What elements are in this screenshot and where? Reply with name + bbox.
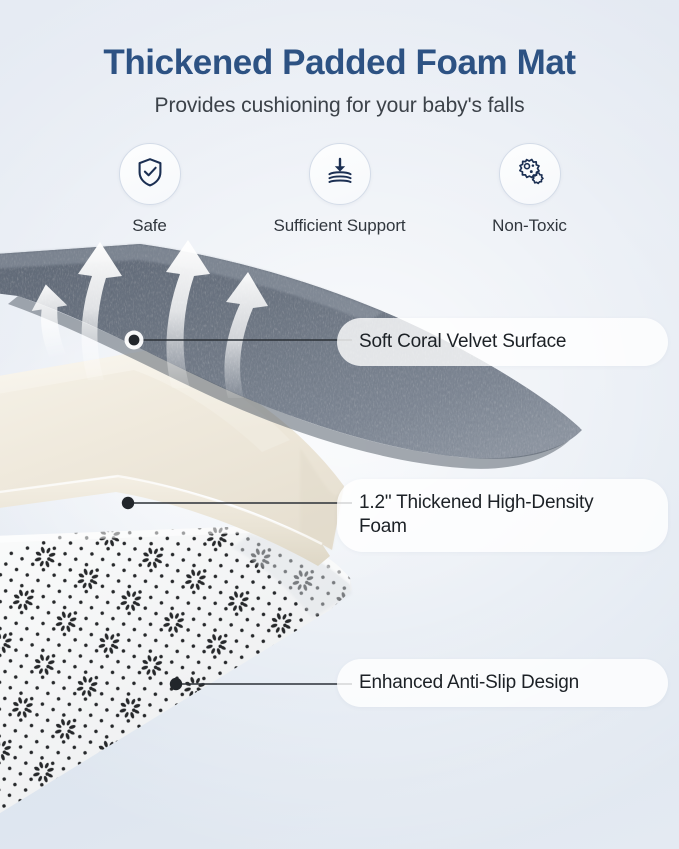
- callout-thickened-high-density-foam: 1.2" Thickened High-Density Foam: [337, 479, 668, 552]
- callout-line: 1.2" Thickened High-Density: [359, 491, 646, 515]
- feature-list: Safe Sufficient Support: [0, 143, 679, 236]
- feature-label: Safe: [55, 216, 245, 236]
- callout-enhanced-anti-slip-design: Enhanced Anti-Slip Design: [337, 659, 668, 707]
- callout-line-2: Foam: [359, 515, 646, 539]
- shield-check-icon: [133, 155, 167, 194]
- feature-icon-circle: [309, 143, 371, 205]
- feature-icon-circle: [499, 143, 561, 205]
- feature-item-sufficient-support: Sufficient Support: [245, 143, 435, 236]
- callout-line: Enhanced Anti-Slip Design: [359, 671, 646, 695]
- feature-item-non-toxic: Non-Toxic: [435, 143, 625, 236]
- feature-icon-circle: [119, 143, 181, 205]
- page-subtitle: Provides cushioning for your baby's fall…: [0, 94, 679, 118]
- callout-line: Soft Coral Velvet Surface: [359, 330, 646, 354]
- page-title: Thickened Padded Foam Mat: [0, 45, 679, 82]
- header: Thickened Padded Foam Mat Provides cushi…: [0, 0, 679, 118]
- cushion-support-icon: [323, 155, 357, 194]
- feature-item-safe: Safe: [55, 143, 245, 236]
- feature-label: Non-Toxic: [435, 216, 625, 236]
- germ-free-icon: [513, 155, 547, 194]
- feature-label: Sufficient Support: [245, 216, 435, 236]
- callout-soft-coral-velvet-surface: Soft Coral Velvet Surface: [337, 318, 668, 366]
